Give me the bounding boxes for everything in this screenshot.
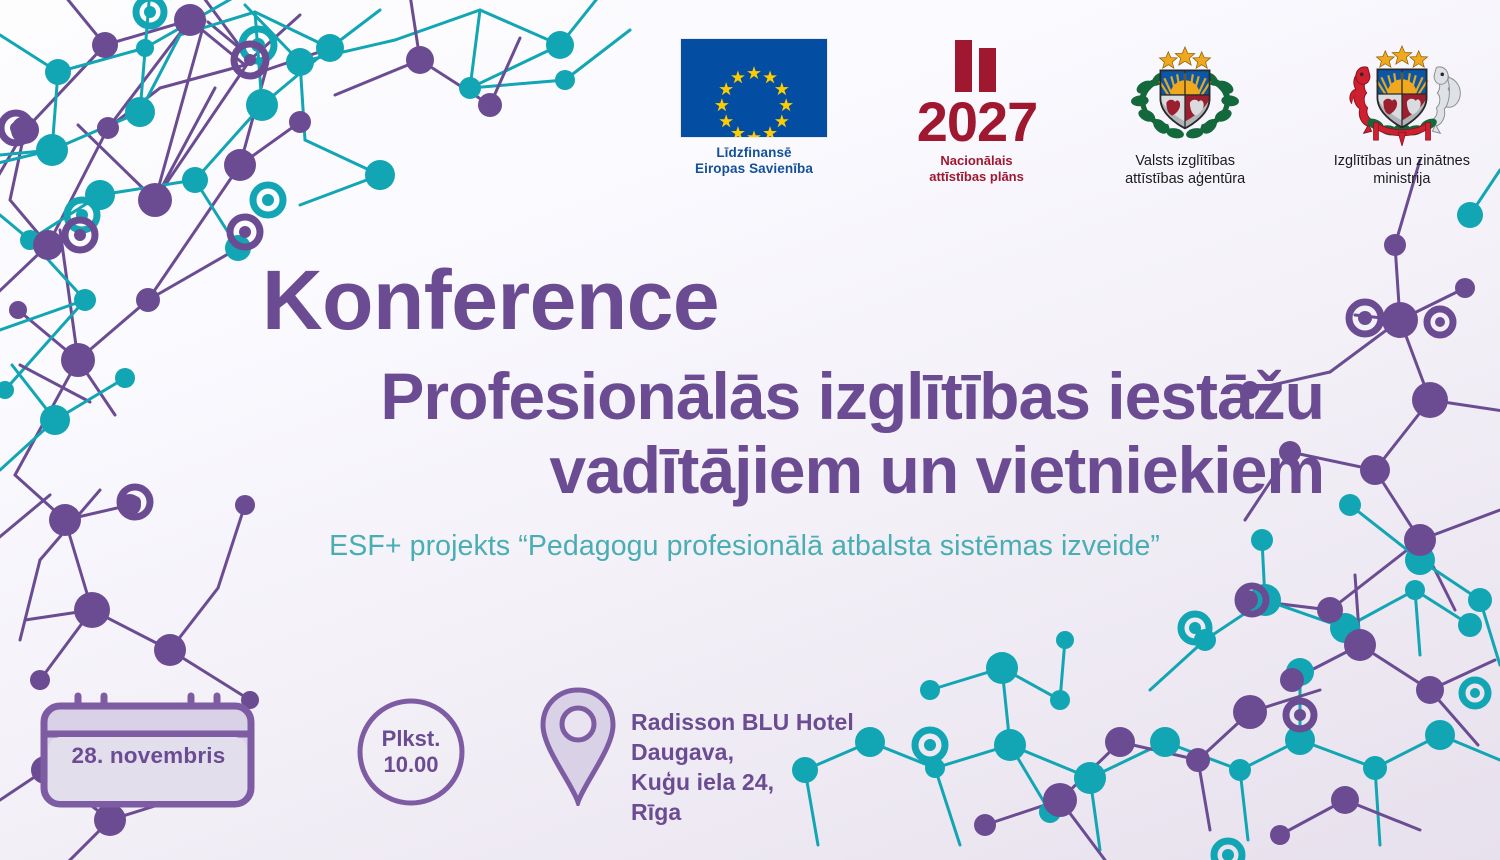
logo-caption-izm: Izglītības un zinātnes ministrija [1334,153,1470,188]
page-subtitle-line-2: vadītājiem un vietniekiem [0,434,1324,508]
logo-izm: Izglītības un zinātnes ministrija [1334,38,1470,188]
event-time-prefix: Plkst. [382,726,441,752]
project-name: ESF+ projekts “Pedagogu profesionālā atb… [0,530,1360,563]
event-venue-address: Radisson BLU Hotel Daugava, Kuģu iela 24… [631,708,854,828]
event-time-value: 10.00 [383,752,438,778]
event-time-label: Plkst. 10.00 [355,696,467,808]
svg-text:2027: 2027 [917,90,1037,146]
partner-logos: Līdzfinansē Eiropas Savienība 2027 Nacio… [680,38,1470,198]
latvia-small-coat-of-arms-icon [1131,38,1239,146]
event-date-label: 28. novembris [36,743,261,769]
event-venue: Radisson BLU Hotel Daugava, Kuģu iela 24… [539,686,854,828]
logo-nap-2027: 2027 Nacionālais attīstības plāns [917,38,1037,185]
conference-poster: Līdzfinansē Eiropas Savienība 2027 Nacio… [0,0,1500,860]
page-subtitle: Profesionālās izglītības iestāžu vadītāj… [0,360,1360,508]
eu-flag-icon [680,38,828,138]
latvia-large-coat-of-arms-icon [1338,38,1466,146]
nap-2027-icon: 2027 [917,38,1037,146]
logo-caption-viaa: Valsts izglītības attīstības aģentūra [1125,153,1245,188]
map-pin-icon [539,686,617,806]
event-time: Plkst. 10.00 [261,678,467,808]
logo-caption-nap: Nacionālais attīstības plāns [929,153,1024,185]
event-details: 28. novembris Plkst. 10.00 Radisson BLU … [36,678,936,828]
headline-block: Konference Profesionālās izglītības iest… [0,258,1360,563]
logo-european-union: Līdzfinansē Eiropas Savienība [680,38,828,178]
logo-caption-eu: Līdzfinansē Eiropas Savienība [695,145,813,178]
event-date: 28. novembris [36,678,261,810]
logo-viaa: Valsts izglītības attīstības aģentūra [1125,38,1245,188]
page-subtitle-line-1: Profesionālās izglītības iestāžu [0,360,1324,434]
page-title: Konference [0,258,1360,342]
